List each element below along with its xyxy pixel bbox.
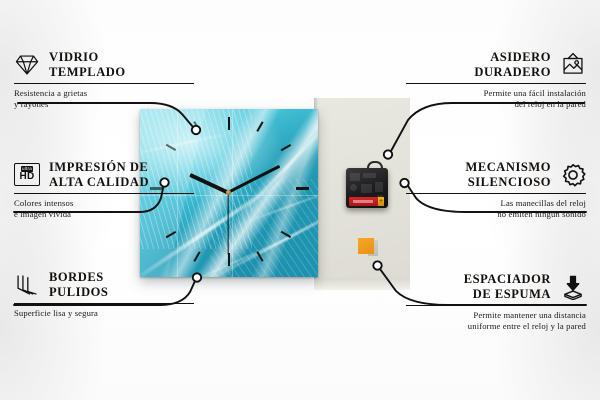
connector-dot-espaciador (373, 261, 381, 269)
feature-title: ESPACIADOR (464, 272, 551, 287)
feature-desc: Permite una fácil instalación (406, 88, 586, 99)
feature-title: MECANISMO (465, 160, 551, 175)
feature-bordes-pulidos: BORDES PULIDOS Superficie lisa y segura (14, 270, 194, 319)
feature-desc: Las manecillas del reloj (406, 198, 586, 209)
feature-desc: y rayones (14, 99, 194, 110)
feature-mecanismo-silencioso: MECANISMO SILENCIOSO Las manecillas del … (406, 160, 586, 220)
ultra-hd-icon-large-text: HD (19, 172, 34, 183)
feature-divider (406, 305, 586, 306)
feature-title: TEMPLADO (49, 65, 126, 80)
connector-dot-bordes-pulidos (193, 273, 201, 281)
infographic-canvas: + (0, 0, 600, 400)
connector-dot-vidrio-templado (192, 126, 200, 134)
feature-vidrio-templado: VIDRIO TEMPLADO Resistencia a grietas y … (14, 50, 194, 110)
feature-divider (406, 83, 586, 84)
feature-espaciador-de-espuma: ESPACIADOR DE ESPUMA Permite mantener un… (406, 272, 586, 332)
feature-title: IMPRESIÓN DE (49, 160, 149, 175)
wire-asidero (391, 103, 584, 151)
feature-title: DURADERO (474, 65, 551, 80)
feature-title: DE ESPUMA (464, 287, 551, 302)
feature-title: VIDRIO (49, 50, 126, 65)
connector-dot-asidero (384, 150, 392, 158)
feature-title: SILENCIOSO (465, 175, 551, 190)
feature-divider (406, 193, 586, 194)
feature-title: PULIDOS (49, 285, 108, 300)
feature-desc: Permite mantener una distancia (406, 310, 586, 321)
feature-divider (14, 193, 194, 194)
feature-divider (14, 83, 194, 84)
feature-impresion-alta-calidad: ultra HD IMPRESIÓN DE ALTA CALIDAD Color… (14, 160, 194, 220)
polished-edges-icon (14, 272, 40, 298)
feature-desc: e imagen vívida (14, 209, 194, 220)
feature-divider (14, 303, 194, 304)
feature-desc: Superficie lisa y segura (14, 308, 194, 319)
feature-title: ALTA CALIDAD (49, 175, 149, 190)
feature-title: BORDES (49, 270, 108, 285)
ultra-hd-icon: ultra HD (14, 163, 40, 186)
gear-icon (560, 162, 586, 188)
picture-frame-hanger-icon (560, 52, 586, 78)
feature-desc: no emiten ningún sonido (406, 209, 586, 220)
feature-asidero-duradero: ASIDERO DURADERO Permite una fácil insta… (406, 50, 586, 110)
feature-desc: Colores intensos (14, 198, 194, 209)
feature-desc: del reloj en la pared (406, 99, 586, 110)
feature-desc: Resistencia a grietas (14, 88, 194, 99)
diamond-icon (14, 52, 40, 78)
feature-title: ASIDERO (474, 50, 551, 65)
down-arrow-layers-icon (560, 274, 586, 300)
feature-desc: uniforme entre el reloj y la pared (406, 321, 586, 332)
